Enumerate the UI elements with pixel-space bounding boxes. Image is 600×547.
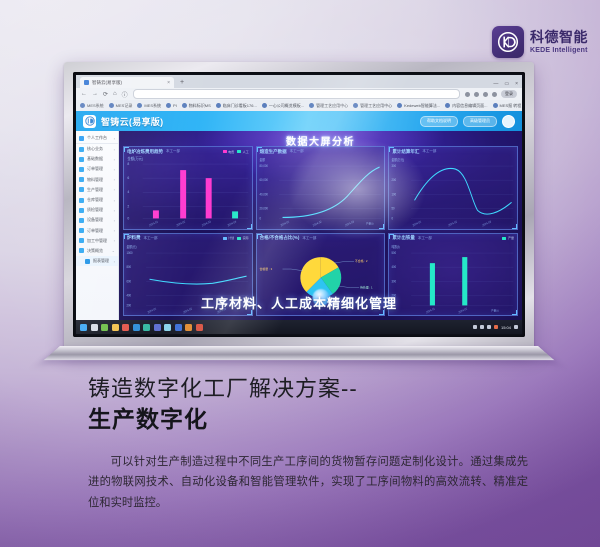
legend-entry: 产量	[502, 236, 514, 240]
home-icon[interactable]: ⌂	[113, 91, 117, 97]
chevron-right-icon: ›	[114, 157, 115, 162]
sidebar-item-decision[interactable]: 决策概览⌄	[76, 246, 118, 256]
panel-title: 炉料费	[127, 235, 141, 241]
panel-legend: 电费 人工	[223, 150, 249, 154]
chevron-down-icon: ⌄	[112, 248, 115, 253]
svg-text:不合格 : 2: 不合格 : 2	[355, 258, 368, 263]
legend-swatch	[502, 237, 506, 240]
svg-text:60,000: 60,000	[259, 178, 268, 182]
panel-subtitle: 本工一部	[290, 149, 304, 154]
workspace-icon	[79, 136, 84, 141]
taskbar-clock[interactable]: 15:04	[501, 325, 511, 330]
new-tab-button[interactable]: +	[177, 78, 187, 88]
panel-subtitle: 本工一部	[144, 236, 158, 241]
legend-label: 人工	[243, 150, 249, 154]
svg-text:500: 500	[392, 250, 397, 254]
app-title: 智铸云(易享版)	[101, 115, 163, 128]
svg-text:金额(万元): 金额(万元)	[392, 157, 405, 162]
svg-text:吨数(t): 吨数(t)	[392, 243, 400, 248]
bookmark-item[interactable]: MES系统	[80, 103, 104, 109]
bookmark-favicon-icon	[309, 103, 314, 108]
bookmark-favicon-icon	[166, 103, 171, 108]
app-header-actions: 帮助文档说明 高级管理员	[420, 115, 515, 128]
window-controls: — ▭ ×	[493, 81, 518, 88]
brand-name-cn: 科德智能	[530, 30, 588, 44]
bookmark-item[interactable]: MES系统	[137, 103, 161, 109]
sidebar-item-production[interactable]: 生产管理›	[76, 185, 118, 195]
widgets-icon[interactable]	[101, 324, 108, 331]
svg-text:2024-01: 2024-01	[412, 219, 422, 227]
svg-text:300: 300	[392, 164, 397, 168]
sidebar-item-label: 订单管理	[87, 166, 103, 172]
system-tray: 15:04	[473, 325, 518, 330]
sidebar-workspace-header[interactable]: 个人工作台 ›	[76, 133, 118, 144]
svg-text:2024-01: 2024-01	[147, 306, 157, 314]
panel-melting-production[interactable]: 熔造生产数据 本工一部	[256, 146, 386, 230]
bookmark-item[interactable]: MES记录	[109, 103, 133, 109]
legend-entry: 实际	[237, 236, 249, 240]
browser-tabbar: 智铸云(易享版) × + — ▭ ×	[76, 75, 522, 88]
brand-name-en: KEDE Intelligent	[530, 47, 588, 54]
legend-swatch	[237, 237, 241, 240]
bookmark-favicon-icon	[137, 103, 142, 108]
bookmark-favicon-icon	[80, 103, 85, 108]
headline-line-1: 铸造数字化工厂解决方案--	[88, 375, 528, 403]
store-icon[interactable]	[175, 324, 182, 331]
bookmark-label: 物料标识MS	[189, 103, 211, 109]
sidebar-item-label: 仓库管理	[87, 197, 103, 203]
browser-icon[interactable]	[154, 324, 161, 331]
chevron-right-icon: ›	[114, 167, 115, 172]
legend-swatch	[237, 150, 241, 153]
legend-entry: 电费	[223, 150, 235, 154]
module-icon	[79, 147, 84, 152]
module-icon	[79, 238, 84, 243]
sidebar-item-label: 决策概览	[87, 248, 103, 254]
browser-navbar: ← → ⟳ ⌂ ⓘ 登录	[76, 88, 522, 100]
sidebar-item-equipment[interactable]: 设备管理›	[76, 215, 118, 225]
chevron-right-icon: ›	[114, 218, 115, 223]
svg-text:2024-01: 2024-01	[426, 306, 436, 314]
app-header: 智铸云(易享版) 帮助文档说明 高级管理员	[76, 111, 522, 131]
sidebar-item-quality[interactable]: 质检管理›	[76, 205, 118, 215]
svg-text:200: 200	[392, 293, 397, 297]
sidebar-item-basedata[interactable]: 基础数据›	[76, 154, 118, 164]
sidebar-item-warehouse[interactable]: 仓库管理›	[76, 195, 118, 205]
svg-text:2024-02: 2024-02	[183, 306, 193, 314]
svg-text:2024-01: 2024-01	[279, 219, 289, 227]
svg-text:2024-02: 2024-02	[448, 219, 458, 227]
brand-text: 科德智能 KEDE Intelligent	[530, 30, 588, 54]
panel-chart-line-peak: 300200 100500 金额(万元) 2024-01 2024-02	[389, 156, 517, 229]
panel-chart-line-rise: 80,00060,000 40,00020,0000 金额 2024-01 20…	[257, 156, 385, 229]
bookmark-item[interactable]: 内容信息编辑页面...	[445, 103, 487, 109]
module-icon	[79, 218, 84, 223]
window-minimize-button[interactable]: —	[493, 81, 498, 87]
sidebar-item-materials[interactable]: 物料管理›	[76, 175, 118, 185]
bookmark-item[interactable]: 物料标识MS	[182, 103, 211, 109]
bookmark-label: 管理工艺应用中心	[360, 103, 392, 109]
legend-entry: 计划	[223, 236, 235, 240]
panel-furnace-material-cost[interactable]: 炉料费 本工一部 计划 实际	[123, 233, 253, 317]
profile-button[interactable]: 登录	[501, 90, 517, 98]
start-icon[interactable]	[80, 324, 87, 331]
svg-text:2024-03: 2024-03	[201, 219, 211, 227]
sidebar-item-label: 设备管理	[87, 217, 103, 223]
svg-text:100: 100	[392, 192, 397, 196]
zhuyun-logo-icon	[83, 115, 96, 128]
download-icon[interactable]	[474, 92, 479, 97]
tab-favicon-icon	[84, 80, 89, 85]
panel-title: 累计出铁量	[392, 235, 415, 241]
svg-text:6: 6	[127, 176, 129, 180]
panel-chart-line-flat: 1000800 600400200 金额(元) 2024-01 2024-02	[124, 243, 252, 316]
panel-subtitle: 本工一部	[166, 149, 180, 154]
dashboard-title: 数据大屏分析	[119, 133, 522, 148]
browser-chrome: 智铸云(易享版) × + — ▭ × ← → ⟳	[76, 75, 522, 131]
bookmark-label: 一心公司概览模板...	[269, 103, 304, 109]
panel-chart-bar2: 500400 3002000 吨数(t) 2024-01	[389, 243, 517, 316]
sidebar-item-orders2[interactable]: 订单管理›	[76, 226, 118, 236]
bookmark-favicon-icon	[109, 103, 114, 108]
browser-toolbar-right: 登录	[465, 90, 517, 98]
search-icon[interactable]	[91, 324, 98, 331]
panel-title: 合格/不合格占比(%)	[260, 235, 300, 241]
chevron-right-icon: ›	[114, 187, 115, 192]
module-icon	[79, 208, 84, 213]
bookmark-label: 临床门诊看板176...	[223, 103, 257, 109]
chevron-right-icon: ›	[114, 228, 115, 233]
module-icon	[85, 259, 90, 264]
svg-text:金额: 金额	[259, 157, 264, 162]
monitor-inner-bezel: 智铸云(易享版) × + — ▭ × ← → ⟳	[73, 72, 525, 337]
slide-copy: 铸造数字化工厂解决方案-- 生产数字化 可以针对生产制造过程中不同生产工序间的货…	[0, 375, 600, 513]
mail-icon[interactable]	[143, 324, 150, 331]
svg-text:400: 400	[392, 264, 397, 268]
svg-text:2024-01: 2024-01	[149, 219, 159, 227]
module-icon	[79, 248, 84, 253]
legend-label: 电费	[228, 150, 234, 154]
panel-title: 电炉冶炼费用趋势	[127, 149, 163, 155]
svg-text:产量(t): 产量(t)	[366, 221, 374, 225]
windows-taskbar: 15:04	[76, 320, 522, 334]
explorer-icon[interactable]	[112, 324, 119, 331]
bookmark-item[interactable]: 管理工艺应用中心	[309, 103, 348, 109]
tab-title: 智铸云(易享版)	[92, 80, 122, 86]
svg-text:产量(t): 产量(t)	[491, 308, 499, 312]
panel-subtitle: 本工一部	[418, 236, 432, 241]
panel-header: 熔造生产数据 本工一部	[257, 147, 385, 156]
svg-text:2024-02: 2024-02	[312, 219, 322, 227]
module-icon	[79, 157, 84, 162]
legend-label: 计划	[228, 236, 234, 240]
admin-role-button[interactable]: 高级管理员	[463, 116, 497, 127]
svg-text:2: 2	[127, 204, 129, 208]
panel-header: 炉料费 本工一部 计划 实际	[124, 234, 252, 243]
sidebar-workspace-label: 个人工作台	[87, 135, 107, 141]
svg-text:800: 800	[127, 264, 132, 268]
bookmark-label: Kedeweb智能算法...	[404, 103, 440, 109]
svg-text:200: 200	[127, 303, 132, 307]
panel-subtitle: 本工一部	[422, 149, 436, 154]
svg-text:20,000: 20,000	[259, 206, 268, 210]
svg-text:8: 8	[127, 162, 129, 166]
panel-header: 累计出铁量 本工一部 产量	[389, 234, 517, 243]
svg-text:40,000: 40,000	[259, 192, 268, 196]
site-info-icon[interactable]: ⓘ	[122, 90, 128, 99]
svg-text:待处理 : 1: 待处理 : 1	[360, 284, 373, 289]
legend-swatch	[223, 150, 227, 153]
svg-text:300: 300	[392, 279, 397, 283]
panel-title: 累计结算年汇	[392, 149, 419, 155]
bookmark-favicon-icon	[445, 103, 450, 108]
panel-electric-cost[interactable]: 电炉冶炼费用趋势 本工一部 电费 人工	[123, 146, 253, 230]
chevron-right-icon: ›	[114, 147, 115, 152]
user-avatar-icon[interactable]	[502, 115, 515, 128]
sidebar-item-core[interactable]: 核心业务›	[76, 144, 118, 154]
app-icon[interactable]	[185, 324, 192, 331]
legend-swatch	[223, 237, 227, 240]
bookmark-item[interactable]: Kedeweb智能算法...	[397, 103, 440, 109]
close-tab-icon[interactable]: ×	[167, 80, 170, 86]
bookmark-favicon-icon	[353, 103, 358, 108]
sidebar-item-processing[interactable]: 加工中管理›	[76, 236, 118, 246]
screen-light-orb	[312, 289, 329, 306]
bookmark-label: 管理工艺应用中心	[316, 103, 348, 109]
sidebar-item-label: 物料管理	[87, 177, 103, 183]
panel-header: 合格/不合格占比(%) 本工一部	[257, 234, 385, 243]
module-icon	[79, 187, 84, 192]
module-icon	[79, 177, 84, 182]
chevron-up-icon[interactable]	[473, 325, 477, 329]
panel-legend: 产量	[502, 236, 514, 240]
svg-text:1000: 1000	[127, 250, 133, 254]
volume-icon[interactable]	[494, 325, 498, 329]
brand-logo: 科德智能 KEDE Intelligent	[492, 26, 588, 58]
share-icon[interactable]	[492, 92, 497, 97]
sidebar-item-label: 核心业务	[87, 146, 103, 152]
panel-chart-bar: 86 420 金额(万元)	[124, 156, 252, 229]
monitor-screen[interactable]: 智铸云(易享版) × + — ▭ × ← → ⟳	[76, 75, 522, 334]
bookmark-label: MES系统	[144, 103, 161, 109]
bookmark-item[interactable]: 临床门诊看板176...	[216, 103, 257, 109]
bookmark-item[interactable]: 一心公司概览模板...	[262, 103, 304, 109]
app-body: 个人工作台 › 核心业务› 基础数据› 订单管理› 物料管理› 生产管理› 仓库…	[76, 131, 522, 320]
sidebar-item-label: 加工中管理	[87, 238, 107, 244]
chrome-icon[interactable]	[122, 324, 129, 331]
reload-icon[interactable]: ⟳	[103, 91, 108, 98]
panel-header: 累计结算年汇 本工一部	[389, 147, 517, 156]
bookmark-item[interactable]: PI	[166, 103, 177, 108]
slide-paragraph: 可以针对生产制造过程中不同生产工序间的货物暂存问题定制化设计。通过集成先进的物联…	[88, 452, 528, 512]
bookmark-favicon-icon	[216, 103, 221, 108]
svg-text:2024-02: 2024-02	[458, 306, 468, 314]
bookmark-favicon-icon	[262, 103, 267, 108]
panel-legend: 计划 实际	[223, 236, 249, 240]
window-maximize-button[interactable]: ▭	[504, 81, 509, 87]
svg-text:0: 0	[392, 216, 394, 220]
svg-text:400: 400	[127, 293, 132, 297]
bookmark-favicon-icon	[397, 103, 402, 108]
sidebar: 个人工作台 › 核心业务› 基础数据› 订单管理› 物料管理› 生产管理› 仓库…	[76, 131, 119, 320]
bookmark-item[interactable]: 管理工艺应用中心	[353, 103, 392, 109]
svg-text:0: 0	[392, 303, 394, 307]
bookmark-label: MES记录	[116, 103, 133, 109]
kd-logo-icon	[492, 26, 524, 58]
chevron-right-icon: ›	[114, 208, 115, 213]
chevron-right-icon: ›	[114, 259, 115, 264]
sidebar-item-label: 基础数据	[87, 156, 103, 162]
panel-header: 电炉冶炼费用趋势 本工一部 电费 人工	[124, 147, 252, 156]
sidebar-item-label: 质检管理	[87, 207, 103, 213]
panel-cumulative-iron-output[interactable]: 累计出铁量 本工一部 产量	[388, 233, 518, 317]
slide-stage: 科德智能 KEDE Intelligent 智铸云(易享版) × +	[0, 0, 600, 547]
bookmark-star-icon[interactable]	[483, 92, 488, 97]
cloud-icon[interactable]	[480, 325, 484, 329]
bookmark-label: 内容信息编辑页面...	[452, 103, 487, 109]
panel-title: 熔造生产数据	[260, 149, 287, 155]
bookmark-label: PI	[173, 103, 177, 108]
svg-text:2024-03: 2024-03	[482, 219, 492, 227]
help-doc-button[interactable]: 帮助文档说明	[420, 116, 458, 127]
sidebar-item-reports[interactable]: 报表管理›	[76, 256, 118, 266]
dashboard: 数据大屏分析 电炉冶炼费用趋势 本工一部 电费 人工	[119, 131, 522, 320]
svg-text:0: 0	[259, 216, 261, 220]
office-icon[interactable]	[196, 324, 203, 331]
browser-tab[interactable]: 智铸云(易享版) ×	[80, 77, 174, 88]
headline-line-2: 生产数字化	[88, 405, 528, 435]
panel-subtitle: 本工一部	[302, 236, 316, 241]
chevron-right-icon: ›	[114, 177, 115, 182]
sidebar-item-label: 生产管理	[87, 187, 103, 193]
svg-text:600: 600	[127, 279, 132, 283]
svg-text:4: 4	[127, 190, 129, 194]
sidebar-item-orders[interactable]: 订单管理›	[76, 164, 118, 174]
svg-text:80,000: 80,000	[259, 164, 268, 168]
chevron-right-icon[interactable]: ›	[114, 136, 115, 141]
legend-label: 实际	[243, 236, 249, 240]
svg-text:2024-03: 2024-03	[217, 306, 227, 314]
chevron-right-icon: ›	[114, 198, 115, 203]
edge-icon[interactable]	[133, 324, 140, 331]
window-close-button[interactable]: ×	[515, 81, 518, 87]
svg-text:2024-02: 2024-02	[176, 219, 186, 227]
bookmark-label: MES系统	[87, 103, 104, 109]
bookmark-favicon-icon	[182, 103, 187, 108]
svg-text:2024-04: 2024-04	[227, 219, 237, 227]
legend-label: 产量	[508, 236, 514, 240]
notifications-icon[interactable]	[514, 325, 518, 329]
bookmark-favicon-icon	[493, 103, 498, 108]
module-icon	[79, 167, 84, 172]
address-bar[interactable]	[133, 89, 460, 99]
extensions-icon[interactable]	[465, 92, 470, 97]
sidebar-item-label: 订单管理	[87, 228, 103, 234]
network-icon[interactable]	[487, 325, 491, 329]
panel-cumulative-settlement[interactable]: 累计结算年汇 本工一部	[388, 146, 518, 230]
chevron-right-icon: ›	[114, 238, 115, 243]
svg-text:2024-03: 2024-03	[344, 219, 354, 227]
back-icon[interactable]: ←	[81, 91, 87, 97]
sidebar-item-label: 报表管理	[93, 258, 109, 264]
legend-entry: 人工	[237, 150, 249, 154]
module-icon	[79, 198, 84, 203]
svg-text:200: 200	[392, 178, 397, 182]
notes-icon[interactable]	[164, 324, 171, 331]
bookmarks-bar: MES系统 MES记录 MES系统 PI 物料标识MS 临床门诊看板176...…	[76, 100, 522, 111]
monitor: 智铸云(易享版) × + — ▭ × ← → ⟳	[64, 62, 534, 352]
svg-text:金额(元): 金额(元)	[127, 243, 137, 248]
svg-text:合格量 : 3: 合格量 : 3	[259, 265, 272, 270]
module-icon	[79, 228, 84, 233]
svg-text:0: 0	[127, 216, 129, 220]
bookmark-item[interactable]: MES报 转程 | 科技...	[493, 103, 522, 109]
bookmark-label: MES报 转程 | 科技...	[500, 103, 522, 109]
monitor-bottom-lip	[44, 346, 555, 360]
svg-text:50: 50	[392, 206, 395, 210]
svg-text:金额(万元): 金额(万元)	[127, 156, 143, 161]
forward-icon[interactable]: →	[92, 91, 98, 97]
